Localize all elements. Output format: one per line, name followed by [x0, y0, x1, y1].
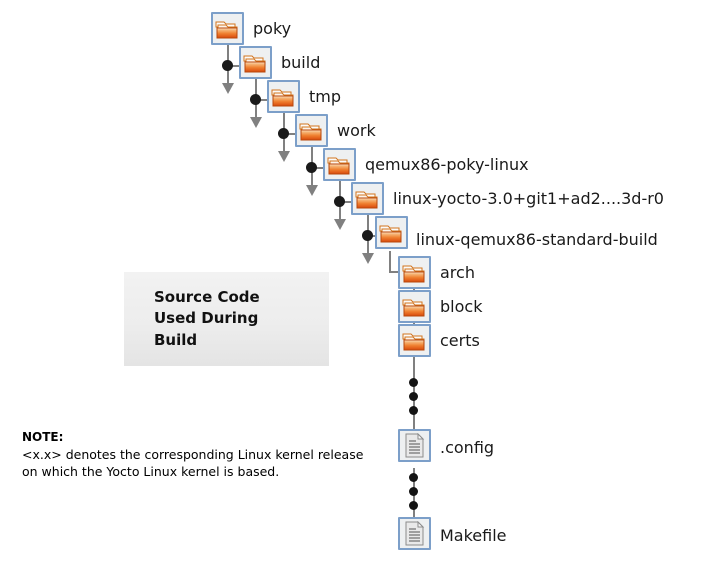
tree-node-label-tmp: tmp [309, 89, 341, 105]
folder-icon [327, 154, 352, 176]
tree-node-label-makefile: Makefile [440, 528, 507, 544]
note-body: <x.x> denotes the corresponding Linux ke… [22, 446, 372, 481]
folder-icon [379, 222, 404, 244]
ellipsis-dot-1 [409, 378, 418, 387]
connector-dot-build [250, 94, 261, 105]
tree-node-label-build: build [281, 55, 320, 71]
note-title: NOTE: [22, 430, 372, 445]
tree-node-label-linux-yocto: linux-yocto-3.0+git1+ad2....3d-r0 [393, 191, 664, 207]
connector-arrow-linuxyocto [362, 253, 374, 264]
source-code-callout-text: Source Code Used During Build [154, 287, 260, 351]
tree-node-label-poky: poky [253, 21, 291, 37]
tree-node-label-work: work [337, 123, 376, 139]
tree-node-label-certs: certs [440, 333, 480, 349]
folder-icon [215, 18, 240, 40]
tree-node-makefile[interactable] [398, 517, 431, 550]
tree-node-block[interactable] [398, 290, 431, 323]
file-icon [404, 433, 425, 458]
ellipsis-dot-4 [409, 473, 418, 482]
tree-node-work[interactable] [295, 114, 328, 147]
tree-node-config-file[interactable] [398, 429, 431, 462]
tree-node-label-standard-build: linux-qemux86-standard-build [416, 232, 658, 248]
connector-vline-stdbuild [389, 251, 391, 273]
tree-node-label-qemux86-poky-linux: qemux86-poky-linux [365, 157, 529, 173]
tree-node-certs[interactable] [398, 324, 431, 357]
connector-arrow-tmp [278, 151, 290, 162]
tree-node-standard-build[interactable] [375, 216, 408, 249]
connector-dot-qemux86 [334, 196, 345, 207]
connector-dot-tmp [278, 128, 289, 139]
tree-node-build[interactable] [239, 46, 272, 79]
folder-icon [299, 120, 324, 142]
connector-arrow-work [306, 185, 318, 196]
ellipsis-dot-2 [409, 392, 418, 401]
note-block: NOTE: <x.x> denotes the corresponding Li… [22, 430, 372, 481]
ellipsis-dot-5 [409, 487, 418, 496]
connector-dot-work [306, 162, 317, 173]
tree-node-label-arch: arch [440, 265, 475, 281]
connector-dot-linuxyocto [362, 230, 373, 241]
directory-tree-diagram: poky build tmp [0, 0, 705, 581]
ellipsis-dot-3 [409, 406, 418, 415]
file-icon [404, 521, 425, 546]
folder-icon [402, 296, 427, 318]
tree-node-linux-yocto[interactable] [351, 182, 384, 215]
source-code-callout: Source Code Used During Build [124, 272, 329, 366]
tree-node-poky[interactable] [211, 12, 244, 45]
connector-arrow-qemux86 [334, 219, 346, 230]
folder-icon [243, 52, 268, 74]
connector-arrow-poky [222, 83, 234, 94]
tree-node-label-block: block [440, 299, 482, 315]
tree-node-qemux86-poky-linux[interactable] [323, 148, 356, 181]
tree-node-label-config-file: .config [440, 440, 494, 456]
tree-node-tmp[interactable] [267, 80, 300, 113]
folder-icon [271, 86, 296, 108]
folder-icon [355, 188, 380, 210]
folder-icon [402, 330, 427, 352]
folder-icon [402, 262, 427, 284]
connector-dot-poky [222, 60, 233, 71]
ellipsis-dot-6 [409, 501, 418, 510]
connector-arrow-build [250, 117, 262, 128]
tree-node-arch[interactable] [398, 256, 431, 289]
